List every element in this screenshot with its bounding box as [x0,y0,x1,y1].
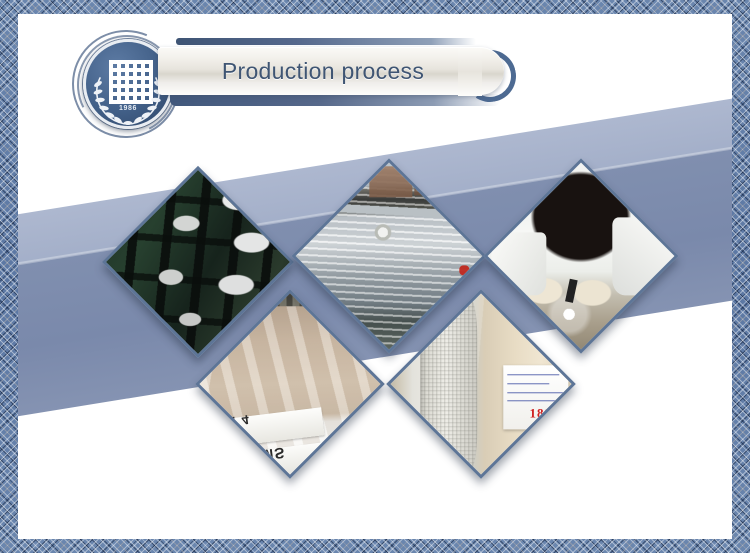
label-line [508,383,549,385]
banner-bottom-accent [170,94,500,106]
title-banner: Production process [158,36,518,108]
inspection-tool [565,279,578,304]
laurel-wreath-icon [92,72,164,127]
carton-label-lower [232,439,352,474]
banner-top-accent [176,38,476,45]
label-line [508,392,563,394]
loom-red-part [459,266,469,276]
label-line [508,374,560,376]
page-title: Production process [158,47,488,95]
specification-label: 188 [504,365,568,429]
label-line [508,400,556,402]
label-number: 188 [529,405,552,421]
poster-canvas: NO: 4 HBMS 188 [18,14,732,539]
poster-root: NO: 4 HBMS 188 [0,0,750,553]
